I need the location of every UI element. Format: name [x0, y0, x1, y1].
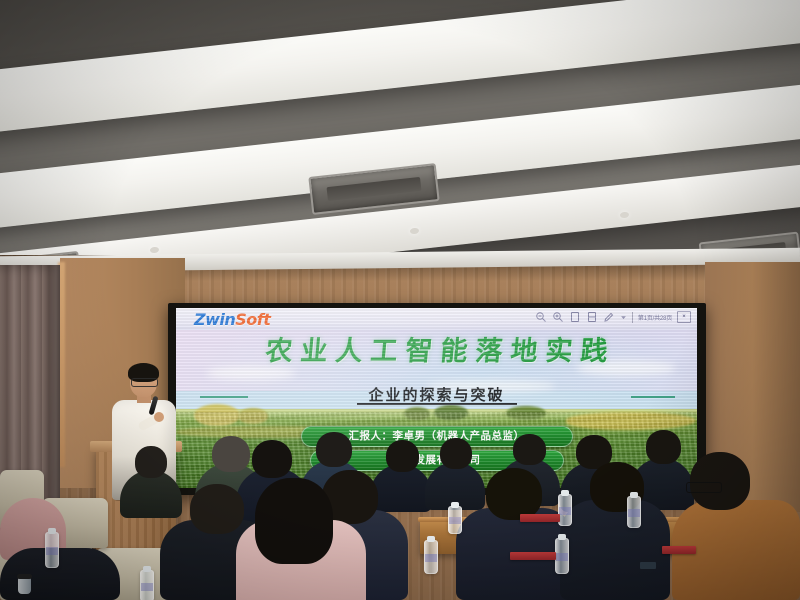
red-notebook: [520, 514, 560, 522]
attendee-head: [690, 452, 750, 510]
attendee-head: [440, 438, 472, 469]
bottle-label: [449, 517, 461, 524]
attendee-head: [252, 440, 292, 478]
water-bottle: [140, 570, 154, 600]
bottle-cap: [561, 490, 569, 496]
water-bottle: [45, 532, 59, 568]
bottle-cap: [427, 536, 435, 542]
conference-room-scene: ZwinSoft 第1页/共28页 × 农业人工智能落地实践 企业的探索与突破: [0, 0, 800, 600]
attendee-head: [316, 432, 352, 467]
water-bottle: [424, 540, 438, 574]
mug-lid: [17, 574, 32, 579]
audience-area: [0, 0, 800, 600]
red-notebook: [662, 546, 696, 554]
bottle-label: [628, 509, 640, 517]
bottle-cap: [630, 492, 638, 498]
bottle-cap: [451, 502, 459, 508]
travel-mug: [18, 578, 31, 594]
water-bottle: [558, 494, 572, 526]
glasses-icon: [686, 482, 722, 493]
bottle-label: [556, 553, 568, 562]
attendee-head: [646, 430, 681, 464]
bottle-label: [46, 547, 58, 556]
water-bottle: [555, 538, 569, 574]
bottle-label: [141, 583, 153, 591]
bottle-label: [559, 507, 571, 515]
bottle-cap: [143, 566, 151, 572]
bottle-cap: [558, 534, 566, 540]
attendee-head: [513, 434, 546, 465]
attendee-body: [560, 500, 670, 600]
bottle-cap: [48, 528, 56, 534]
attendee-head: [135, 446, 167, 478]
attendee-hair: [255, 478, 333, 564]
attendee-head: [190, 484, 244, 534]
water-bottle: [448, 506, 462, 534]
bottle-label: [425, 554, 437, 562]
water-bottle: [627, 496, 641, 528]
attendee-head: [212, 436, 250, 472]
attendee-head: [486, 468, 542, 520]
phone: [640, 562, 656, 569]
red-notebook: [510, 552, 556, 560]
attendee-head: [386, 440, 419, 472]
